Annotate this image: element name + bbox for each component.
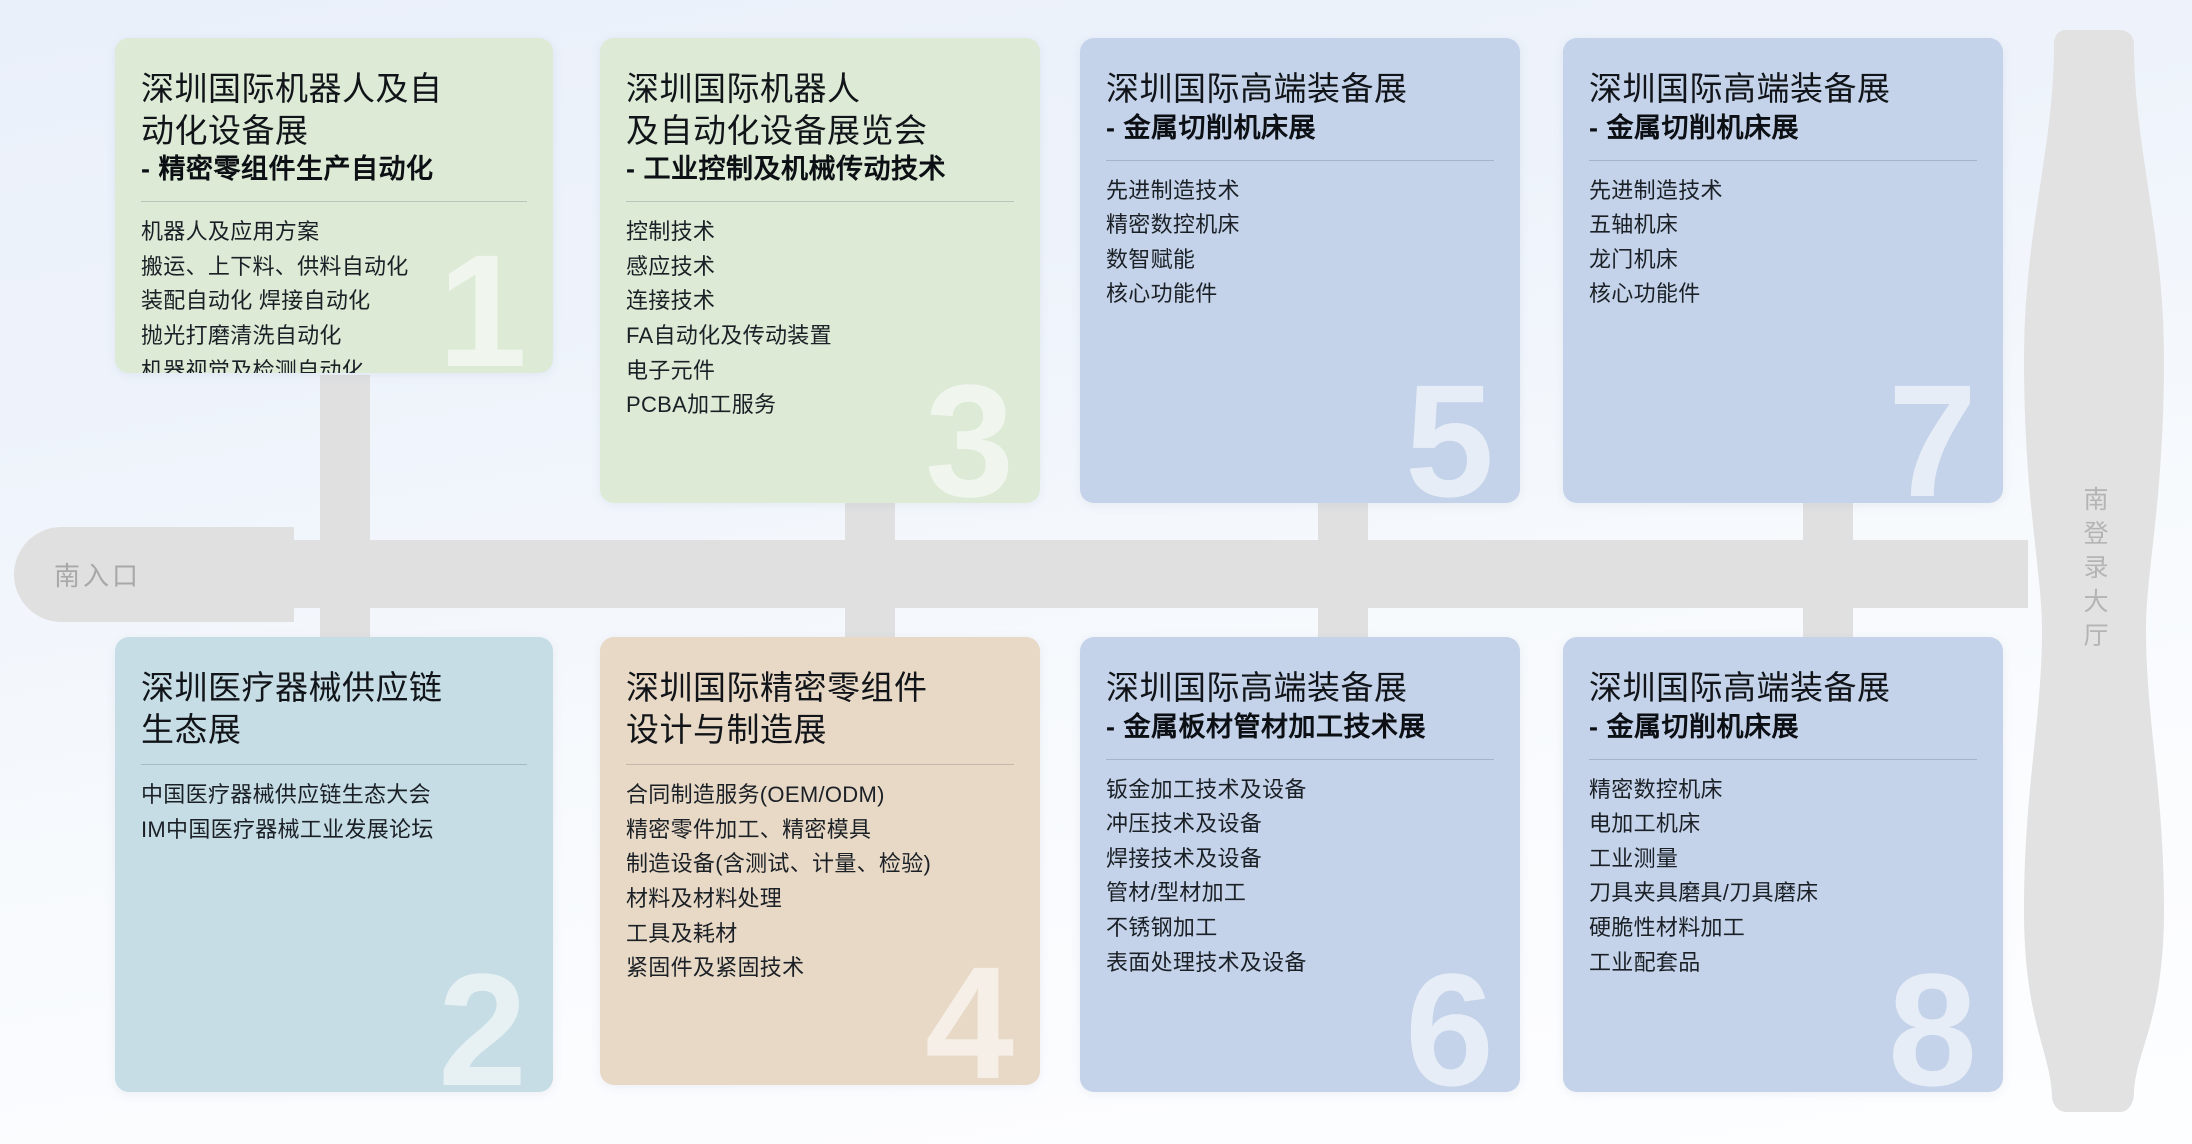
hall-card-7[interactable]: 7 深圳国际高端装备展 - 金属切削机床展 先进制造技术 五轴机床 龙门机床 核… <box>1563 38 2003 503</box>
list-item: 装配自动化 焊接自动化 <box>141 287 527 316</box>
hall-items-1: 机器人及应用方案 搬运、上下料、供料自动化 装配自动化 焊接自动化 抛光打磨清洗… <box>141 218 527 373</box>
hall-divider-7 <box>1589 160 1977 161</box>
hall-title-8: 深圳国际高端装备展 <box>1589 667 1977 709</box>
south-registration-lobby[interactable]: 南登录大厅 <box>2024 30 2164 1112</box>
hall-title-3: 深圳国际机器人 及自动化设备展览会 <box>626 68 1014 151</box>
hall-title-4: 深圳国际精密零组件 设计与制造展 <box>626 667 1014 750</box>
hall-header-7: 深圳国际高端装备展 - 金属切削机床展 <box>1589 68 1977 146</box>
list-item: FA自动化及传动装置 <box>626 322 1014 351</box>
hall-items-7: 先进制造技术 五轴机床 龙门机床 核心功能件 <box>1589 177 1977 309</box>
hall-subtitle-5: - 金属切削机床展 <box>1106 111 1494 146</box>
list-item: 工业配套品 <box>1589 949 1977 978</box>
list-item: 五轴机床 <box>1589 211 1977 240</box>
hall-header-8: 深圳国际高端装备展 - 金属切削机床展 <box>1589 667 1977 745</box>
list-item: 控制技术 <box>626 218 1014 247</box>
list-item: 精密数控机床 <box>1106 211 1494 240</box>
list-item: 机器人及应用方案 <box>141 218 527 247</box>
list-item: 搬运、上下料、供料自动化 <box>141 253 527 282</box>
hall-header-6: 深圳国际高端装备展 - 金属板材管材加工技术展 <box>1106 667 1494 745</box>
hall-title-7: 深圳国际高端装备展 <box>1589 68 1977 110</box>
hall-divider-1 <box>141 201 527 202</box>
list-item: 制造设备(含测试、计量、检验) <box>626 850 1014 879</box>
hall-items-5: 先进制造技术 精密数控机床 数智赋能 核心功能件 <box>1106 177 1494 309</box>
list-item: IM中国医疗器械工业发展论坛 <box>141 816 527 845</box>
list-item: 表面处理技术及设备 <box>1106 949 1494 978</box>
list-item: 机器视觉及检测自动化 <box>141 357 527 373</box>
hall-title-6: 深圳国际高端装备展 <box>1106 667 1494 709</box>
hall-subtitle-1: - 精密零组件生产自动化 <box>141 152 527 187</box>
list-item: 抛光打磨清洗自动化 <box>141 322 527 351</box>
hall-divider-2 <box>141 764 527 765</box>
list-item: 冲压技术及设备 <box>1106 810 1494 839</box>
hall-subtitle-7: - 金属切削机床展 <box>1589 111 1977 146</box>
hall-header-3: 深圳国际机器人 及自动化设备展览会 - 工业控制及机械传动技术 <box>626 68 1014 187</box>
hall-header-4: 深圳国际精密零组件 设计与制造展 <box>626 667 1014 750</box>
hall-number-2: 2 <box>438 950 527 1092</box>
south-entrance-label: 南入口 <box>54 556 141 593</box>
list-item: 工具及耗材 <box>626 920 1014 949</box>
hall-card-3[interactable]: 3 深圳国际机器人 及自动化设备展览会 - 工业控制及机械传动技术 控制技术 感… <box>600 38 1040 503</box>
list-item: 工业测量 <box>1589 845 1977 874</box>
hall-divider-3 <box>626 201 1014 202</box>
hall-card-8[interactable]: 8 深圳国际高端装备展 - 金属切削机床展 精密数控机床 电加工机床 工业测量 … <box>1563 637 2003 1092</box>
south-entrance[interactable]: 南入口 <box>14 527 294 622</box>
hall-divider-5 <box>1106 160 1494 161</box>
hall-title-2: 深圳医疗器械供应链 生态展 <box>141 667 527 750</box>
list-item: 先进制造技术 <box>1589 177 1977 206</box>
hall-card-1[interactable]: 1 深圳国际机器人及自 动化设备展 - 精密零组件生产自动化 机器人及应用方案 … <box>115 38 553 373</box>
hall-card-6[interactable]: 6 深圳国际高端装备展 - 金属板材管材加工技术展 钣金加工技术及设备 冲压技术… <box>1080 637 1520 1092</box>
list-item: 管材/型材加工 <box>1106 879 1494 908</box>
hall-title-1: 深圳国际机器人及自 动化设备展 <box>141 68 527 151</box>
list-item: 精密零件加工、精密模具 <box>626 816 1014 845</box>
hall-card-4[interactable]: 4 深圳国际精密零组件 设计与制造展 合同制造服务(OEM/ODM) 精密零件加… <box>600 637 1040 1085</box>
south-lobby-label: 南登录大厅 <box>2076 486 2112 656</box>
list-item: 龙门机床 <box>1589 246 1977 275</box>
hall-card-2[interactable]: 2 深圳医疗器械供应链 生态展 中国医疗器械供应链生态大会 IM中国医疗器械工业… <box>115 637 553 1092</box>
list-item: 钣金加工技术及设备 <box>1106 776 1494 805</box>
list-item: PCBA加工服务 <box>626 391 1014 420</box>
hall-items-4: 合同制造服务(OEM/ODM) 精密零件加工、精密模具 制造设备(含测试、计量、… <box>626 781 1014 983</box>
hall-header-5: 深圳国际高端装备展 - 金属切削机床展 <box>1106 68 1494 146</box>
hall-number-5: 5 <box>1405 361 1494 503</box>
hall-header-1: 深圳国际机器人及自 动化设备展 - 精密零组件生产自动化 <box>141 68 527 187</box>
list-item: 电加工机床 <box>1589 810 1977 839</box>
list-item: 精密数控机床 <box>1589 776 1977 805</box>
hall-items-6: 钣金加工技术及设备 冲压技术及设备 焊接技术及设备 管材/型材加工 不锈钢加工 … <box>1106 776 1494 978</box>
hall-divider-4 <box>626 764 1014 765</box>
list-item: 数智赋能 <box>1106 246 1494 275</box>
list-item: 中国医疗器械供应链生态大会 <box>141 781 527 810</box>
list-item: 感应技术 <box>626 253 1014 282</box>
list-item: 材料及材料处理 <box>626 885 1014 914</box>
floorplan-stage: 南入口 南登录大厅 1 深圳国际机器人及自 动化设备展 - 精密零组件生产自动化… <box>0 0 2192 1144</box>
hall-subtitle-3: - 工业控制及机械传动技术 <box>626 152 1014 187</box>
list-item: 核心功能件 <box>1589 280 1977 309</box>
hall-items-8: 精密数控机床 电加工机床 工业测量 刀具夹具磨具/刀具磨床 硬脆性材料加工 工业… <box>1589 776 1977 978</box>
list-item: 核心功能件 <box>1106 280 1494 309</box>
list-item: 不锈钢加工 <box>1106 914 1494 943</box>
corridor-stub-up-1 <box>320 375 370 550</box>
list-item: 焊接技术及设备 <box>1106 845 1494 874</box>
list-item: 紧固件及紧固技术 <box>626 954 1014 983</box>
list-item: 连接技术 <box>626 287 1014 316</box>
hall-subtitle-8: - 金属切削机床展 <box>1589 710 1977 745</box>
hall-number-7: 7 <box>1888 361 1977 503</box>
hall-items-2: 中国医疗器械供应链生态大会 IM中国医疗器械工业发展论坛 <box>141 781 527 844</box>
hall-header-2: 深圳医疗器械供应链 生态展 <box>141 667 527 750</box>
hall-items-3: 控制技术 感应技术 连接技术 FA自动化及传动装置 电子元件 PCBA加工服务 <box>626 218 1014 420</box>
list-item: 硬脆性材料加工 <box>1589 914 1977 943</box>
list-item: 刀具夹具磨具/刀具磨床 <box>1589 879 1977 908</box>
list-item: 电子元件 <box>626 357 1014 386</box>
hall-subtitle-6: - 金属板材管材加工技术展 <box>1106 710 1494 745</box>
list-item: 合同制造服务(OEM/ODM) <box>626 781 1014 810</box>
list-item: 先进制造技术 <box>1106 177 1494 206</box>
hall-divider-6 <box>1106 759 1494 760</box>
hall-card-5[interactable]: 5 深圳国际高端装备展 - 金属切削机床展 先进制造技术 精密数控机床 数智赋能… <box>1080 38 1520 503</box>
hall-title-5: 深圳国际高端装备展 <box>1106 68 1494 110</box>
hall-divider-8 <box>1589 759 1977 760</box>
